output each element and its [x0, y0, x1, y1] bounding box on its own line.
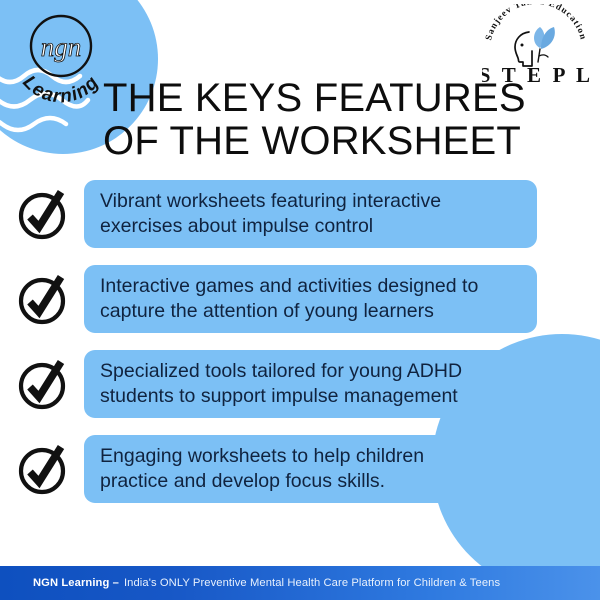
check-circle-icon [16, 357, 70, 411]
feature-text: Interactive games and activities designe… [100, 274, 521, 322]
feature-item: Vibrant worksheets featuring interactive… [0, 178, 600, 250]
feature-text-box: Engaging worksheets to help children pra… [84, 435, 537, 502]
feature-text-line-1: Engaging worksheets to help children [100, 444, 521, 468]
feature-text-line-1: Interactive games and activities designe… [100, 274, 521, 298]
feature-text-line-2: exercises about impulse control [100, 214, 521, 238]
feature-item: Engaging worksheets to help children pra… [0, 433, 600, 505]
poster-canvas: ngn Learning Sanjeev Tanna Education S T… [0, 0, 600, 600]
check-circle-icon [16, 187, 70, 241]
check-circle-icon [16, 272, 70, 326]
footer-tagline: India's ONLY Preventive Mental Health Ca… [124, 577, 500, 589]
feature-text-line-2: students to support impulse management [100, 384, 521, 408]
check-circle-icon [16, 442, 70, 496]
feature-item: Interactive games and activities designe… [0, 263, 600, 335]
ngn-logo-curved-text: Learning [18, 72, 103, 108]
footer-content: NGN Learning –India's ONLY Preventive Me… [33, 577, 500, 589]
feature-text-box: Interactive games and activities designe… [84, 265, 537, 332]
page-title-line-2: OF THE WORKSHEET [103, 120, 573, 163]
feature-text-box: Vibrant worksheets featuring interactive… [84, 180, 537, 247]
feature-text: Vibrant worksheets featuring interactive… [100, 189, 521, 237]
feature-text: Specialized tools tailored for young ADH… [100, 359, 521, 407]
stepl-logo: Sanjeev Tanna Education S T E P L [482, 4, 590, 86]
feature-text-box: Specialized tools tailored for young ADH… [84, 350, 537, 417]
ngn-logo-mark-text: ngn [41, 32, 82, 62]
feature-text-line-1: Vibrant worksheets featuring interactive [100, 189, 521, 213]
feature-text: Engaging worksheets to help children pra… [100, 444, 521, 492]
page-title-line-1: THE KEYS FEATURES [103, 77, 573, 120]
feature-text-line-2: capture the attention of young learners [100, 299, 521, 323]
feature-item: Specialized tools tailored for young ADH… [0, 348, 600, 420]
feature-text-line-1: Specialized tools tailored for young ADH… [100, 359, 521, 383]
feature-text-line-2: practice and develop focus skills. [100, 469, 521, 493]
footer-bar: NGN Learning –India's ONLY Preventive Me… [0, 566, 600, 600]
features-list: Vibrant worksheets featuring interactive… [0, 178, 600, 518]
footer-brand: NGN Learning – [33, 577, 119, 589]
page-title: THE KEYS FEATURES OF THE WORKSHEET [103, 77, 573, 163]
